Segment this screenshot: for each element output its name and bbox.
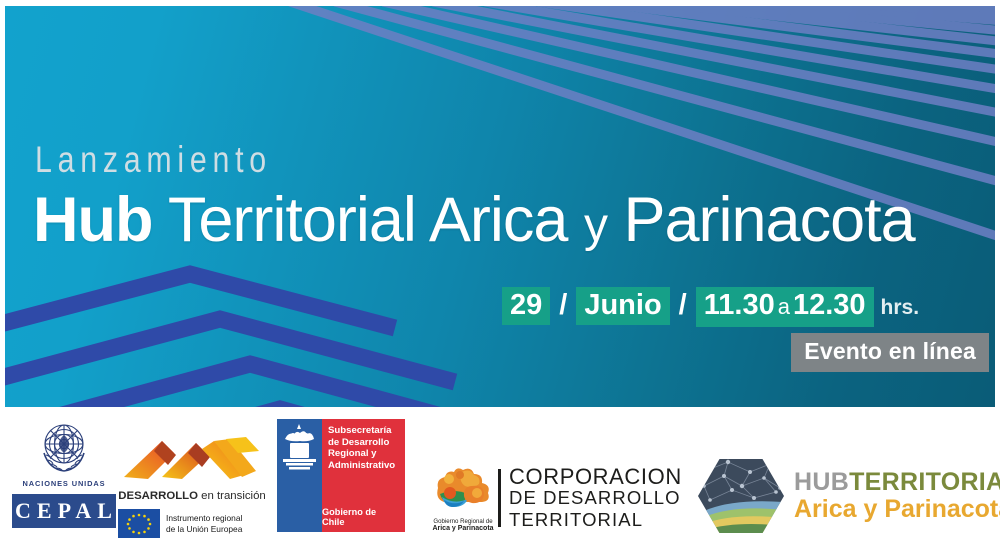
- hub-word: HUB: [794, 468, 849, 496]
- event-banner-poster: Lanzamiento Hub Territorial Arica y Pari…: [0, 0, 1000, 540]
- date-month-chip: Junio: [576, 287, 669, 325]
- page-title: Hub Territorial Arica y Parinacota: [33, 187, 915, 259]
- logo-corporacion-desarrollo-territorial: Gobierno Regional de Arica y Parinacota …: [432, 464, 682, 532]
- cepal-text: CEPAL: [10, 498, 118, 524]
- eu-flag-icon: [118, 509, 160, 538]
- title-y: y: [584, 199, 607, 252]
- eu-caption-line1: Instrumento regional: [166, 513, 242, 524]
- corporacion-wordmark: CORPORACION DE DESARROLLO TERRITORIAL: [509, 466, 682, 531]
- territorial-word: TERRITORIAL: [849, 468, 1000, 496]
- en-transicion-word: en transición: [198, 490, 266, 502]
- gore-caption: Gobierno Regional de Arica y Parinacota: [432, 518, 494, 532]
- subdere-line4: Administrativo: [328, 460, 395, 472]
- cepal-wordmark: CEPAL: [12, 494, 116, 528]
- subdere-line2: de Desarrollo: [328, 437, 395, 449]
- time-start: 11.30: [704, 289, 775, 321]
- gore-arica-emblem-icon: [432, 464, 494, 512]
- gore-caption-bold: Arica y Parinacota: [432, 525, 493, 532]
- corporacion-line3: TERRITORIAL: [509, 509, 682, 531]
- chile-coat-of-arms-panel: [277, 419, 322, 532]
- time-end: 12.30: [793, 289, 866, 321]
- event-date-row: 29 / Junio / 11.30a12.30 hrs.: [502, 287, 919, 327]
- hero-background: Lanzamiento Hub Territorial Arica y Pari…: [5, 6, 995, 407]
- hero-section: Lanzamiento Hub Territorial Arica y Pari…: [5, 6, 995, 407]
- time-unit-label: hrs.: [874, 296, 920, 320]
- event-time-chip: 11.30a12.30: [696, 287, 874, 327]
- gore-arica-mark: Gobierno Regional de Arica y Parinacota: [432, 464, 494, 532]
- gobierno-de-chile-label: Gobierno de Chile: [322, 507, 399, 527]
- united-nations-emblem-icon: [33, 419, 95, 477]
- date-separator-1: /: [550, 289, 576, 322]
- chile-coat-of-arms-icon: [277, 419, 322, 532]
- title-parinacota: Parinacota: [607, 185, 915, 255]
- subdere-text-panel: Subsecretaría de Desarrollo Regional y A…: [322, 419, 405, 532]
- un-label: NACIONES UNIDAS: [12, 479, 116, 488]
- subdere-line1: Subsecretaría: [328, 425, 395, 437]
- desarrollo-word: DESARROLLO: [118, 490, 198, 502]
- time-join-word: a: [775, 294, 793, 319]
- corp-divider: [498, 469, 501, 527]
- subdere-title: Subsecretaría de Desarrollo Regional y A…: [328, 425, 395, 471]
- corporacion-line1: CORPORACION: [509, 466, 682, 488]
- logo-subdere-gobierno-de-chile: Subsecretaría de Desarrollo Regional y A…: [277, 419, 405, 532]
- date-separator-2: /: [670, 289, 696, 322]
- corporacion-line2: DE DESARROLLO: [509, 487, 682, 509]
- logo-cepal: NACIONES UNIDAS CEPAL: [12, 419, 116, 528]
- desarrollo-zigzag-icon: [118, 431, 266, 483]
- hub-title: HUBTERRITORIAL: [794, 469, 1000, 496]
- eu-caption: Instrumento regional de la Unión Europea: [166, 513, 242, 534]
- hub-hexagon-icon: [698, 456, 784, 536]
- desarrollo-caption: DESARROLLO en transición: [118, 490, 266, 502]
- gore-caption-small: Gobierno Regional de: [433, 518, 492, 525]
- status-badge-online-event: Evento en línea: [791, 333, 989, 372]
- hub-subtitle: Arica y Parinacota: [794, 496, 1000, 523]
- title-hub: Hub: [33, 185, 152, 255]
- logo-desarrollo-en-transicion: DESARROLLO en transición Instrumento reg…: [118, 431, 266, 538]
- logo-hub-territorial: HUBTERRITORIAL Arica y Parinacota: [698, 456, 1000, 536]
- eyebrow-text: Lanzamiento: [35, 139, 272, 181]
- subdere-line3: Regional y: [328, 448, 395, 460]
- hub-wordmark: HUBTERRITORIAL Arica y Parinacota: [794, 469, 1000, 523]
- date-day-chip: 29: [502, 287, 550, 325]
- eu-caption-line2: de la Unión Europea: [166, 524, 242, 535]
- title-territorial-arica: Territorial Arica: [152, 185, 583, 255]
- european-union-block: Instrumento regional de la Unión Europea: [118, 509, 266, 538]
